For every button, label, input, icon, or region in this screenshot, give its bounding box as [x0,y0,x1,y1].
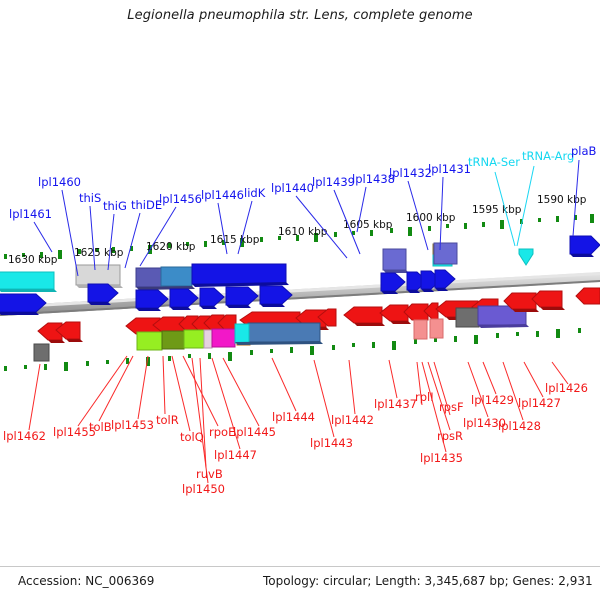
leader-line-lpl1442 [349,360,355,414]
feature-label-tRNA-Ser[interactable]: tRNA-Ser [468,155,520,169]
accession-text: Accession: NC_006369 [18,574,154,588]
leader-line-lpl1460 [62,190,78,276]
leader-line-thiG [108,214,114,270]
ruler-tick-label-3: 1615 kbp [210,234,260,246]
feature-label-lidK[interactable]: lidK [244,186,266,200]
feature-label-lpl1437[interactable]: lpl1437 [374,397,417,411]
leader-line-lpl1427 [524,362,543,397]
ruler-tick-label-4: 1610 kbp [278,226,328,238]
ruler-tick-label-8: 1590 kbp [537,194,587,206]
reverse-strand-features[interactable] [34,288,600,361]
feature-label-lpl1450[interactable]: lpl1450 [182,482,225,496]
feature-label-lpl1428[interactable]: lpl1428 [498,419,541,433]
feature-label-rpsR[interactable]: rpsR [437,429,463,443]
ruler-tick-label-2: 1620 kbp [146,241,196,253]
status-bar: Accession: NC_006369 Topology: circular;… [0,566,600,601]
leader-line-lpl1428 [503,362,523,420]
feature-label-lpl1435[interactable]: lpl1435 [420,451,463,465]
feature-label-lpl1429[interactable]: lpl1429 [471,393,514,407]
feature-label-plaB[interactable]: plaB [571,144,597,158]
feature-label-lpl1439[interactable]: lpl1439 [312,175,355,189]
leader-line-lpl1462 [29,364,40,430]
leader-line-lpl1429 [483,362,496,394]
leader-line-lpl1453 [138,356,148,419]
topology-text: Topology: circular; Length: 3,345,687 bp… [263,574,593,588]
feature-label-lpl1427[interactable]: lpl1427 [518,396,561,410]
feature-label-rpsF[interactable]: rpsF [439,400,464,414]
leader-line-lpl1444 [272,358,296,411]
bottom-feature-labels[interactable]: lpl1462lpl1455tolBlpl1453tolRtolQrpoElpl… [3,381,588,496]
feature-label-ruvB[interactable]: ruvB [196,467,223,481]
feature-label-lpl1453[interactable]: lpl1453 [111,418,154,432]
feature-label-lpl1462[interactable]: lpl1462 [3,429,46,443]
leader-line-lpl1430 [468,362,488,417]
feature-label-lpl1443[interactable]: lpl1443 [310,436,353,450]
feature-label-tolB[interactable]: tolB [89,420,112,434]
feature-label-thiS[interactable]: thiS [79,191,101,205]
feature-label-lpl1444[interactable]: lpl1444 [272,410,315,424]
leader-line-thiDE [125,213,140,268]
ruler-tick-label-6: 1600 kbp [406,212,456,224]
feature-label-rplI[interactable]: rplI [415,390,434,404]
feature-label-lpl1446[interactable]: lpl1446 [201,188,244,202]
leader-line-lidK [238,201,252,254]
feature-label-lpl1426[interactable]: lpl1426 [545,381,588,395]
leader-line-lpl1455 [78,356,127,426]
feature-label-lpl1461[interactable]: lpl1461 [9,207,52,221]
leader-line-thiS [90,206,95,270]
leader-line-tolR [163,356,165,414]
ruler-tick-label-0: 1630 kbp [8,254,58,266]
feature-label-lpl1442[interactable]: lpl1442 [331,413,374,427]
leader-line-lpl1445 [223,358,259,426]
feature-label-lpl1447[interactable]: lpl1447 [214,448,257,462]
leader-line-lpl1446 [218,203,227,254]
ruler-tick-label-1: 1625 kbp [74,247,124,259]
ruler-tick-label-7: 1595 kbp [472,204,522,216]
feature-label-tolR[interactable]: tolR [156,413,179,427]
feature-label-tolQ[interactable]: tolQ [180,430,204,444]
feature-label-lpl1460[interactable]: lpl1460 [38,175,81,189]
leader-line-ruvB [200,358,206,468]
feature-label-thiDE[interactable]: thiDE [131,198,162,212]
feature-label-lpl1431[interactable]: lpl1431 [428,162,471,176]
feature-label-rpoE[interactable]: rpoE [209,425,235,439]
feature-label-lpl1440[interactable]: lpl1440 [271,181,314,195]
feature-label-lpl1456[interactable]: lpl1456 [159,192,202,206]
leader-line-lpl1437 [389,360,397,398]
genome-map-canvas[interactable]: 1630 kbp1625 kbp1620 kbp1615 kbp1610 kbp… [0,0,600,600]
leader-line-lpl1456 [140,207,176,266]
leader-line-lpl1461 [34,222,52,252]
feature-label-lpl1445[interactable]: lpl1445 [233,425,276,439]
feature-label-tRNA-Arg[interactable]: tRNA-Arg [522,149,574,163]
feature-label-lpl1432[interactable]: lpl1432 [389,166,432,180]
ruler-tick-label-5: 1605 kbp [343,219,393,231]
feature-label-thiG[interactable]: thiG [103,199,127,213]
